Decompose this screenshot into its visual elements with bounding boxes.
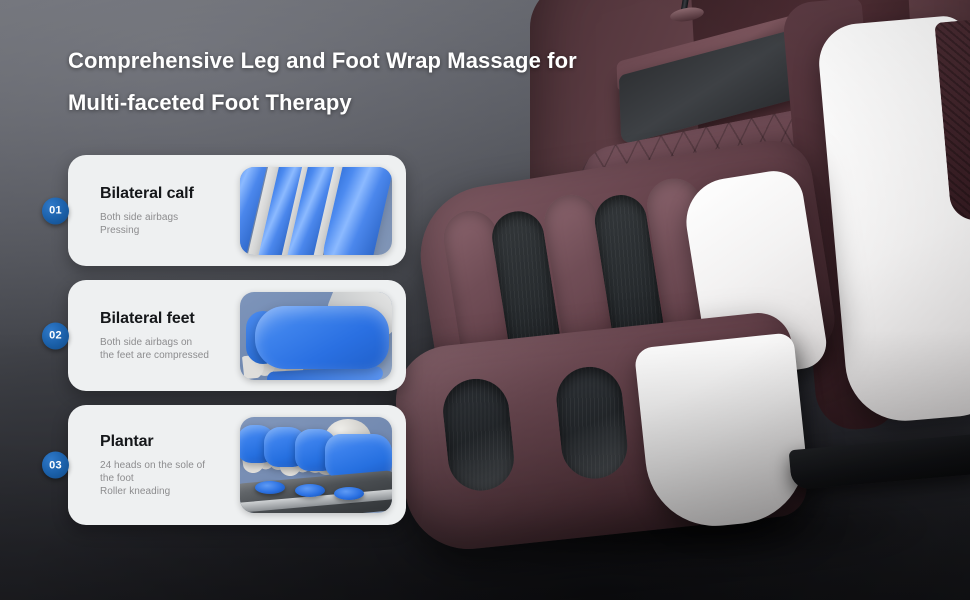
- feature-card-title: Plantar: [100, 432, 234, 452]
- foot-fabric-slot: [440, 376, 517, 494]
- feature-card-plantar[interactable]: 03 Plantar 24 heads on the sole of the f…: [68, 405, 406, 525]
- feature-card-description: Both side airbags Pressing: [100, 211, 234, 237]
- feature-card-text: Bilateral calf Both side airbags Pressin…: [100, 184, 240, 237]
- feature-card-text: Bilateral feet Both side airbags on the …: [100, 309, 240, 362]
- plantar-rollers-image: [240, 417, 392, 513]
- feature-card-text: Plantar 24 heads on the sole of the foot…: [100, 432, 240, 498]
- calf-airbags-image: [240, 167, 392, 255]
- step-badge-01: 01: [42, 197, 69, 224]
- feature-card-bilateral-calf[interactable]: 01 Bilateral calf Both side airbags Pres…: [68, 155, 406, 266]
- feature-card-list: 01 Bilateral calf Both side airbags Pres…: [68, 155, 406, 539]
- feature-card-description: 24 heads on the sole of the foot Roller …: [100, 459, 234, 498]
- feature-card-title: Bilateral feet: [100, 309, 234, 329]
- feature-card-description: Both side airbags on the feet are compre…: [100, 336, 234, 362]
- feature-card-bilateral-feet[interactable]: 02 Bilateral feet Both side airbags on t…: [68, 280, 406, 391]
- foot-airbags-image: [240, 292, 392, 380]
- feature-card-title: Bilateral calf: [100, 184, 234, 204]
- foot-fabric-slot: [553, 364, 630, 482]
- page-title: Comprehensive Leg and Foot Wrap Massage …: [68, 40, 668, 124]
- step-badge-02: 02: [42, 322, 69, 349]
- step-badge-03: 03: [42, 452, 69, 479]
- promo-banner: Comprehensive Leg and Foot Wrap Massage …: [0, 0, 970, 600]
